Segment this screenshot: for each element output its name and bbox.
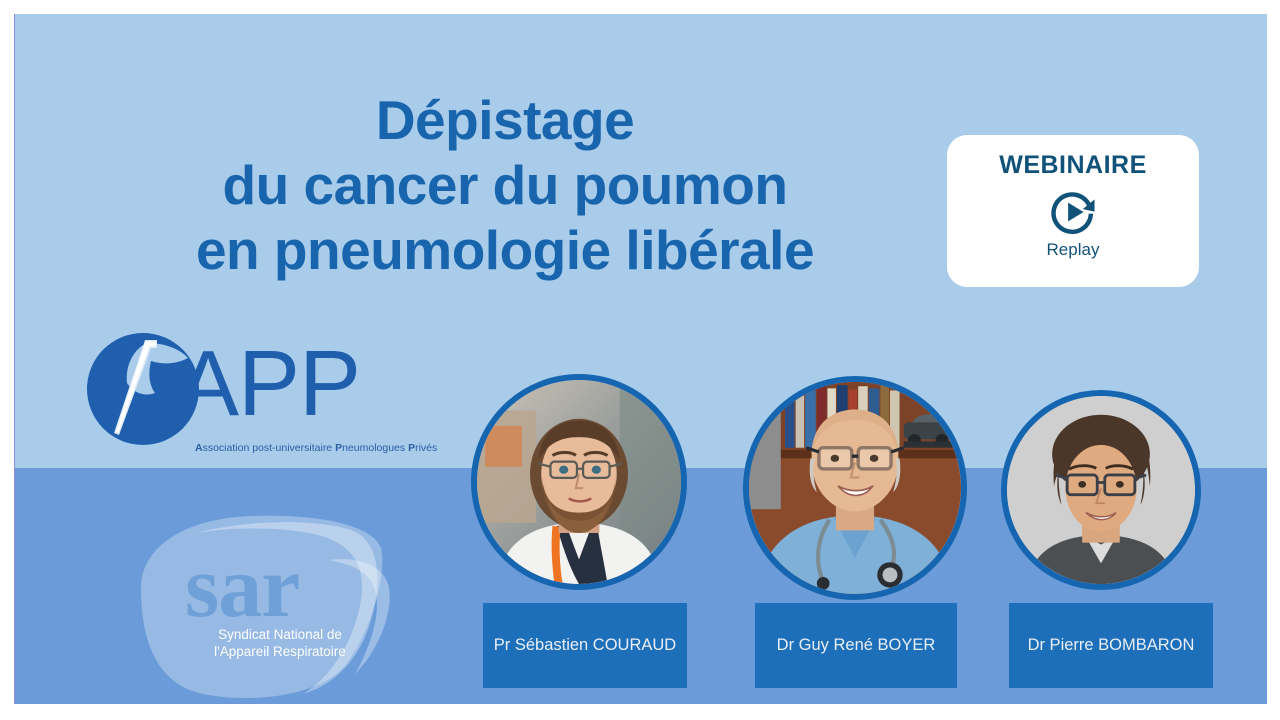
app-logo-tagline: Association post-universitaire Pneumolog…: [195, 442, 437, 454]
title-line-2: du cancer du poumon: [75, 153, 935, 218]
speaker-name-1: Pr Sébastien COURAUD: [494, 636, 676, 655]
app-logo: APP Association post-universitaire Pneum…: [85, 331, 445, 467]
webinar-badge-subtitle: Replay: [947, 240, 1199, 260]
replay-icon: [1047, 186, 1099, 238]
title-line-3: en pneumologie libérale: [75, 218, 935, 283]
speaker-name-bar-2: Dr Guy René BOYER: [755, 603, 957, 688]
sar-subtitle-line-1: Syndicat National de: [185, 627, 375, 644]
speaker-name-bar-3: Dr Pierre BOMBARON: [1009, 603, 1213, 688]
speaker-name-2: Dr Guy René BOYER: [777, 636, 936, 655]
portrait-pierre-bombaron: [1001, 390, 1201, 590]
title-line-1: Dépistage: [75, 88, 935, 153]
speaker-name-bar-1: Pr Sébastien COURAUD: [483, 603, 687, 688]
tagline-seg-2: neumologues: [342, 442, 408, 454]
portrait-guy-rene-boyer: [743, 376, 967, 600]
portrait-sebastien-couraud: [471, 374, 687, 590]
page-title: Dépistage du cancer du poumon en pneumol…: [75, 88, 935, 283]
tagline-seg-3: rivés: [415, 442, 437, 454]
sar-subtitle-line-2: l'Appareil Respiratoire: [185, 644, 375, 661]
webinar-replay-badge[interactable]: WEBINAIRE Replay: [947, 135, 1199, 287]
sar-logo: sar Syndicat National de l'Appareil Resp…: [133, 508, 423, 704]
tagline-seg-1: ssociation post-universitaire: [203, 442, 335, 454]
webinar-slide: Dépistage du cancer du poumon en pneumol…: [14, 14, 1267, 704]
speaker-name-3: Dr Pierre BOMBARON: [1028, 636, 1195, 655]
tagline-cap-a: A: [195, 442, 203, 454]
webinar-badge-heading: WEBINAIRE: [947, 151, 1199, 180]
sar-logo-wordmark: sar: [185, 544, 299, 632]
sar-logo-subtitle: Syndicat National de l'Appareil Respirat…: [185, 627, 375, 661]
app-logo-wordmark: APP: [177, 337, 360, 430]
